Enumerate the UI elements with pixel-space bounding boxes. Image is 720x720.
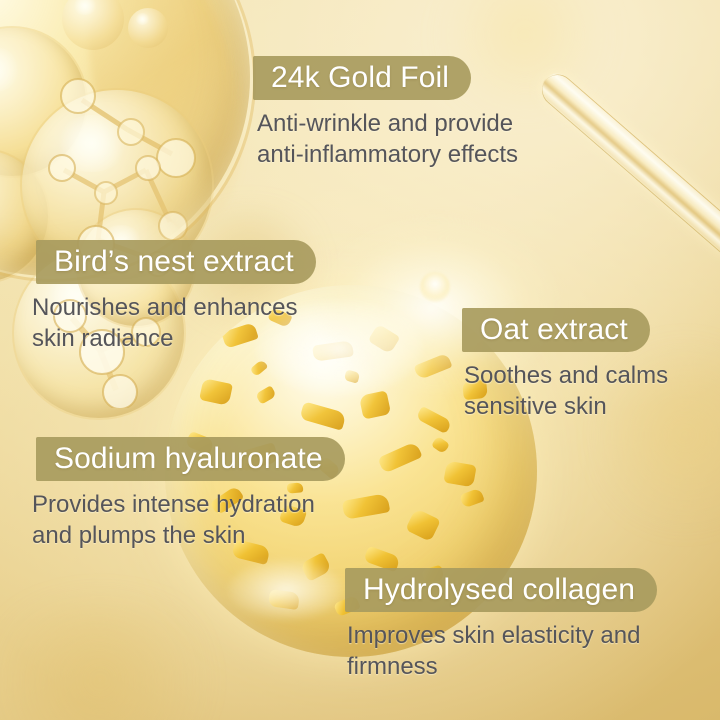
callout-gold-foil: 24k Gold Foil Anti-wrinkle and provide a… — [253, 56, 518, 170]
pipette-tip-droplet — [420, 272, 450, 302]
oil-droplet-icon — [0, 0, 250, 276]
callout-title-oat-extract: Oat extract — [462, 308, 650, 352]
callout-oat-extract: Oat extract Soothes and calms sensitive … — [462, 308, 668, 422]
sphere-lower-highlight — [228, 560, 344, 620]
callout-title-birds-nest-extract: Bird’s nest extract — [36, 240, 316, 284]
bokeh-glow-bottom-left — [0, 600, 230, 720]
molecule-icon — [52, 72, 202, 192]
bubble-icon — [62, 0, 124, 50]
callout-title-sodium-hyaluronate: Sodium hyaluronate — [36, 437, 345, 481]
pipette-edge — [536, 68, 720, 256]
pipette-dropper-icon — [536, 68, 720, 255]
callout-description-hydrolysed-collagen: Improves skin elasticity and firmness — [347, 620, 657, 682]
ingredient-infographic-poster: 24k Gold Foil Anti-wrinkle and provide a… — [0, 0, 720, 720]
callout-title-gold-foil: 24k Gold Foil — [253, 56, 471, 100]
bubble-icon — [128, 8, 168, 48]
callout-sodium-hyaluronate: Sodium hyaluronate Provides intense hydr… — [36, 437, 345, 551]
callout-title-hydrolysed-collagen: Hydrolysed collagen — [345, 568, 657, 612]
callout-description-gold-foil: Anti-wrinkle and provide anti-inflammato… — [257, 108, 518, 170]
callout-description-oat-extract: Soothes and calms sensitive skin — [464, 360, 668, 422]
bubble-icon — [0, 28, 86, 176]
callout-description-sodium-hyaluronate: Provides intense hydration and plumps th… — [32, 489, 345, 551]
callout-birds-nest-extract: Bird’s nest extract Nourishes and enhanc… — [36, 240, 316, 354]
droplet-sheen — [62, 0, 268, 243]
callout-hydrolysed-collagen: Hydrolysed collagen Improves skin elasti… — [345, 568, 657, 682]
callout-description-birds-nest-extract: Nourishes and enhances skin radiance — [32, 292, 316, 354]
